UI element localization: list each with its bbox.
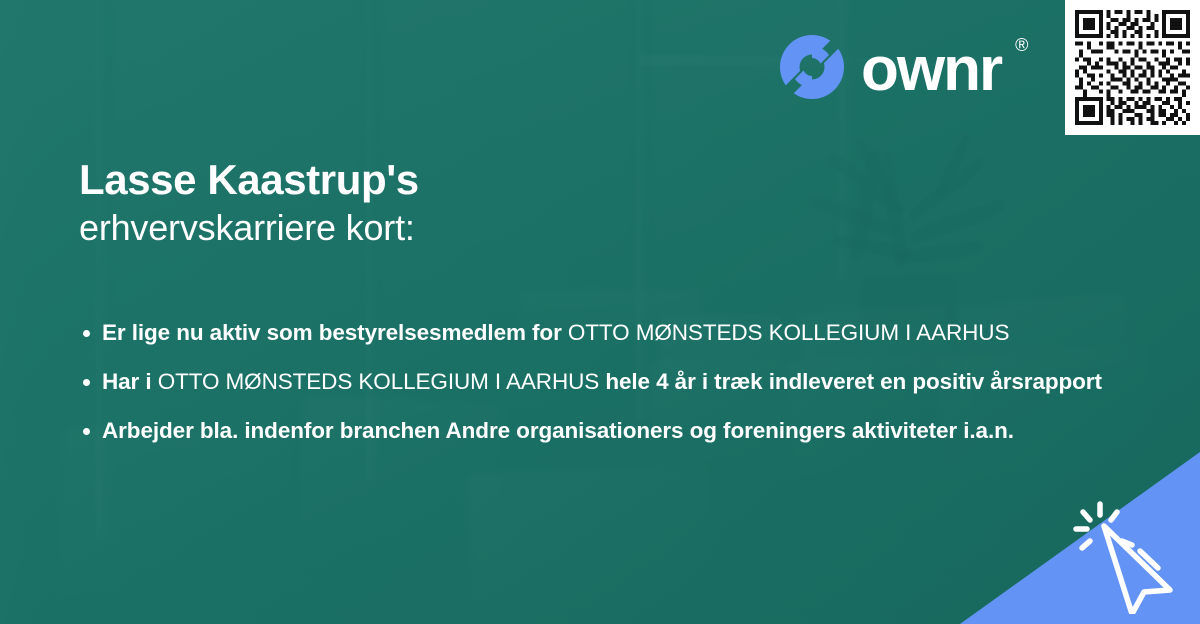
- bullet-dot-icon: [83, 428, 90, 435]
- ownr-logo: ownr ®: [779, 34, 1030, 100]
- bullet-dot-icon: [83, 379, 90, 386]
- list-item: Arbejder bla. indenfor branchen Andre or…: [80, 410, 1180, 452]
- corner-accent: [960, 452, 1200, 624]
- click-cursor-icon: [1070, 496, 1190, 614]
- list-item: Er lige nu aktiv som bestyrelsesmedlem f…: [80, 312, 1180, 354]
- page-title-line-1: Lasse Kaastrup's: [79, 155, 419, 205]
- ownr-wordmark: ownr: [861, 39, 1001, 101]
- text-run: hele 4 år i træk indleveret en positiv å…: [605, 369, 1102, 394]
- card-content: ownr ®: [0, 0, 1200, 624]
- list-item-text: Arbejder bla. indenfor branchen Andre or…: [102, 418, 1014, 443]
- list-item-text: Har i OTTO MØNSTEDS KOLLEGIUM I AARHUS h…: [102, 369, 1102, 394]
- qr-code[interactable]: [1065, 0, 1200, 135]
- text-run: OTTO MØNSTEDS KOLLEGIUM I AARHUS: [158, 369, 606, 394]
- ownr-circle-swirl-icon: [779, 34, 845, 100]
- list-item-text: Er lige nu aktiv som bestyrelsesmedlem f…: [102, 320, 1009, 345]
- list-item: Har i OTTO MØNSTEDS KOLLEGIUM I AARHUS h…: [80, 361, 1180, 403]
- qr-code-icon: [1075, 10, 1190, 125]
- text-run: OTTO MØNSTEDS KOLLEGIUM I AARHUS: [568, 320, 1009, 345]
- bullet-dot-icon: [83, 330, 90, 337]
- page-title-line-2: erhvervskarriere kort:: [79, 205, 419, 252]
- text-run: Er lige nu aktiv som bestyrelsesmedlem f…: [102, 320, 568, 345]
- registered-trademark-icon: ®: [1015, 35, 1028, 56]
- page-title: Lasse Kaastrup's erhvervskarriere kort:: [79, 155, 419, 251]
- career-highlights-list: Er lige nu aktiv som bestyrelsesmedlem f…: [80, 312, 1180, 459]
- text-run: Arbejder bla. indenfor branchen Andre or…: [102, 418, 1014, 443]
- text-run: Har i: [102, 369, 158, 394]
